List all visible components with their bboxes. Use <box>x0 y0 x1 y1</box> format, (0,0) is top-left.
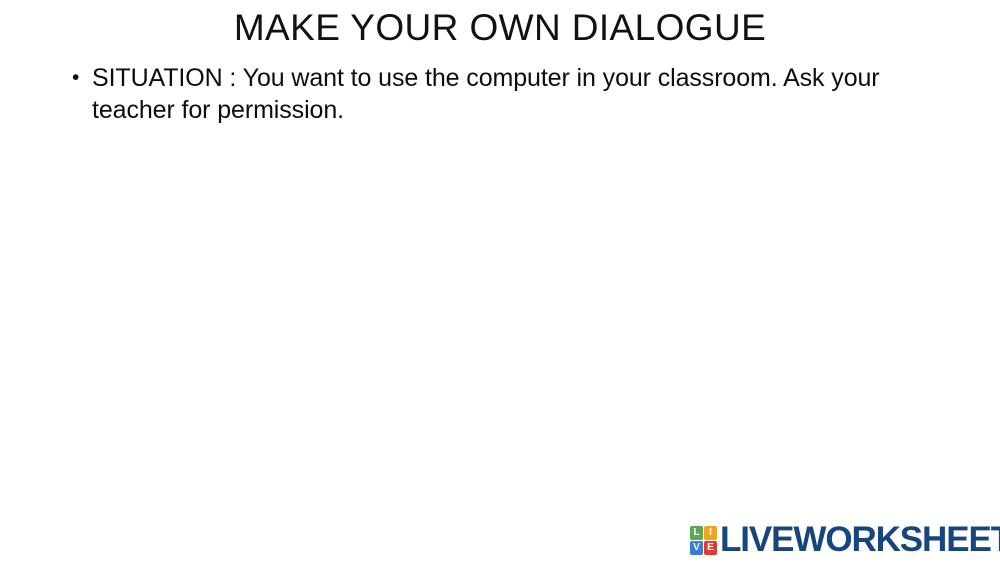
logo-tile-e: E <box>704 541 717 555</box>
bullet-list-item: • SITUATION : You want to use the comput… <box>66 62 916 126</box>
logo-tile-i: I <box>704 526 717 540</box>
bullet-item-text: SITUATION : You want to use the computer… <box>92 62 916 126</box>
slide-body: • SITUATION : You want to use the comput… <box>66 62 916 126</box>
slide-title: MAKE YOUR OWN DIALOGUE <box>0 6 1000 50</box>
logo-tile-l: L <box>690 526 703 540</box>
bullet-point-icon: • <box>72 62 79 94</box>
slide-canvas: MAKE YOUR OWN DIALOGUE • SITUATION : You… <box>0 0 1000 562</box>
logo-tile-v: V <box>690 541 703 555</box>
logo-wordmark: LIVEWORKSHEETS <box>720 521 1000 559</box>
liveworksheets-logo: L I V E LIVEWORKSHEETS <box>690 521 1000 559</box>
logo-tile-grid: L I V E <box>690 526 717 555</box>
